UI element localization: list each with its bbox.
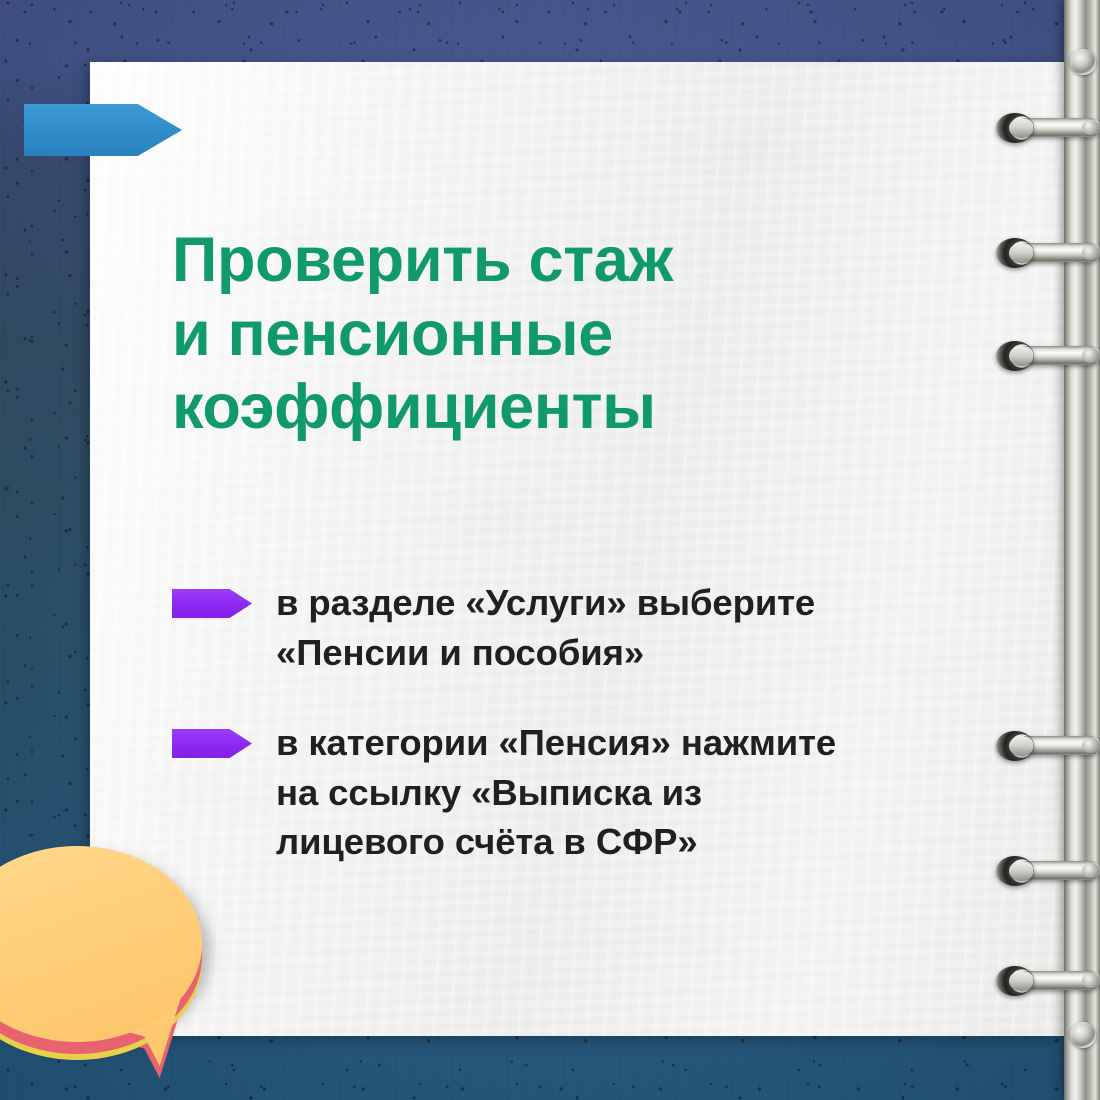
binder-ring-tip bbox=[1082, 738, 1100, 753]
binder-ring-icon bbox=[996, 731, 1100, 761]
list-item-label: в разделе «Услуги» выберите «Пенсии и по… bbox=[276, 578, 815, 677]
binder-ring-hook bbox=[996, 113, 1034, 143]
binder-ring-hook bbox=[996, 341, 1034, 371]
binder-rivet-icon bbox=[1070, 49, 1096, 75]
list-item: в разделе «Услуги» выберите «Пенсии и по… bbox=[172, 578, 992, 677]
page-title: Проверить стаж и пенсионные коэффициенты bbox=[172, 224, 872, 445]
list-item: в категории «Пенсия» нажмите на ссылку «… bbox=[172, 718, 1002, 867]
binder-spine bbox=[1064, 0, 1100, 1100]
speech-bubble-icon bbox=[0, 846, 214, 1066]
binder-ring-tip bbox=[1082, 973, 1100, 988]
binder-ring-hook bbox=[996, 966, 1034, 996]
binder-ring-hook bbox=[996, 238, 1034, 268]
binder-ring-tip bbox=[1082, 245, 1100, 260]
binder-ring-hook bbox=[996, 731, 1034, 761]
binder-ring-icon bbox=[996, 238, 1100, 268]
binder-ring-hook bbox=[996, 856, 1034, 886]
paper-blotch-texture bbox=[90, 62, 1065, 1036]
purple-arrow-bullet-icon bbox=[172, 589, 252, 618]
binder-ring-tip bbox=[1082, 120, 1100, 135]
list-item-label: в категории «Пенсия» нажмите на ссылку «… bbox=[276, 718, 836, 867]
poster-canvas: Проверить стаж и пенсионные коэффициенты… bbox=[0, 0, 1100, 1100]
paper-sheet bbox=[90, 62, 1065, 1036]
binder-rivet-icon bbox=[1070, 1022, 1096, 1048]
binder-ring-icon bbox=[996, 113, 1100, 143]
purple-arrow-bullet-icon bbox=[172, 729, 252, 758]
binder-ring-icon bbox=[996, 856, 1100, 886]
binder-ring-icon bbox=[996, 966, 1100, 996]
binder-ring-tip bbox=[1082, 348, 1100, 363]
binder-ring-icon bbox=[996, 341, 1100, 371]
binder-ring-tip bbox=[1082, 863, 1100, 878]
